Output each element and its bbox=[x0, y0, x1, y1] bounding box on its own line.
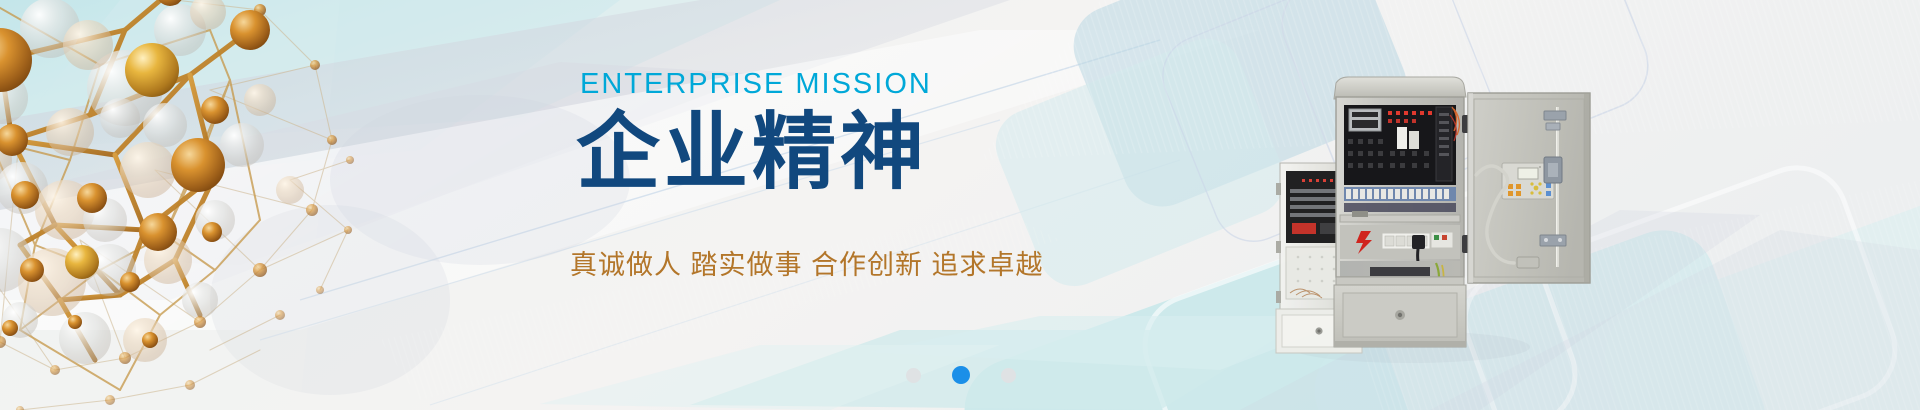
equipment-cabinet-icon bbox=[1240, 55, 1670, 410]
carousel-dot-3[interactable] bbox=[1001, 368, 1016, 383]
cabinet-open-door bbox=[1468, 93, 1590, 283]
carousel-dot-1[interactable] bbox=[906, 368, 921, 383]
hero-banner: ENTERPRISE MISSION 企业精神 真诚做人 踏实做事 合作创新 追… bbox=[0, 0, 1920, 410]
banner-text-block: ENTERPRISE MISSION 企业精神 真诚做人 踏实做事 合作创新 追… bbox=[0, 0, 1120, 410]
equipment-cabinet-svg bbox=[1240, 55, 1670, 410]
carousel-dot-2[interactable] bbox=[952, 366, 970, 384]
banner-eyebrow: ENTERPRISE MISSION bbox=[580, 68, 932, 101]
banner-headline: 企业精神 bbox=[576, 104, 928, 200]
carousel-dots[interactable] bbox=[906, 364, 1016, 386]
banner-subline: 真诚做人 踏实做事 合作创新 追求卓越 bbox=[570, 243, 1044, 282]
front-cabinet bbox=[1334, 77, 1469, 347]
